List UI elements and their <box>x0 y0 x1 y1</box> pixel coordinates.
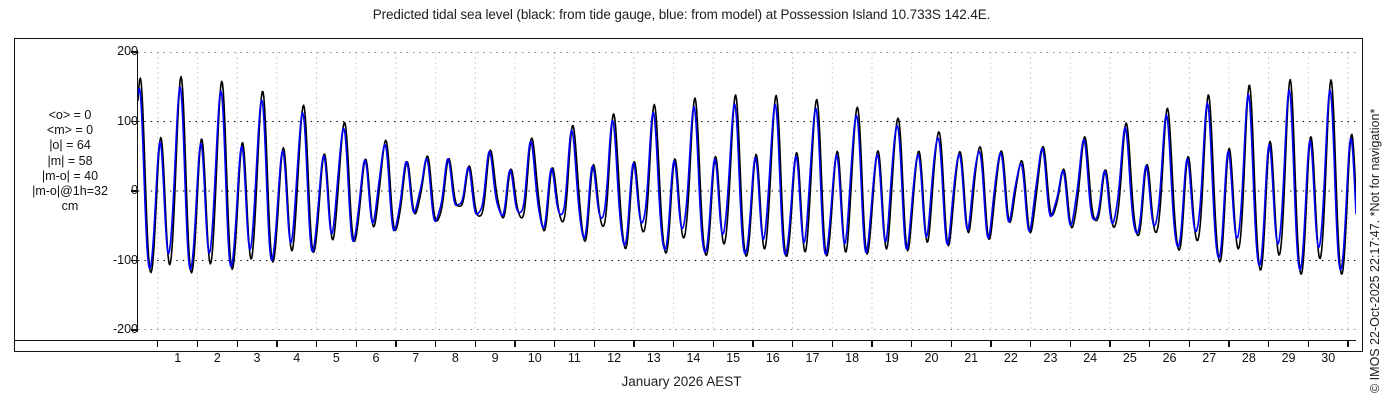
tide-series-svg <box>138 52 1356 330</box>
x-tick-label: 14 <box>678 351 708 365</box>
x-tick <box>911 340 912 347</box>
x-tick-label: 27 <box>1194 351 1224 365</box>
x-tick-label: 10 <box>520 351 550 365</box>
x-tick-label: 19 <box>877 351 907 365</box>
x-tick-label: 22 <box>996 351 1026 365</box>
x-tick-label: 26 <box>1155 351 1185 365</box>
x-tick <box>1347 340 1348 347</box>
y-tick-label: 100 <box>104 114 138 128</box>
x-tick-label: 12 <box>599 351 629 365</box>
x-tick <box>276 340 277 347</box>
x-tick <box>1070 340 1071 347</box>
x-tick <box>435 340 436 347</box>
y-tick-label: 200 <box>104 44 138 58</box>
x-tick <box>1109 340 1110 347</box>
x-tick <box>475 340 476 347</box>
x-tick-label: 5 <box>321 351 351 365</box>
x-tick-label: 29 <box>1274 351 1304 365</box>
stat-rms-diff: |m-o| = 40 <box>6 169 134 184</box>
x-tick <box>1228 340 1229 347</box>
x-tick <box>1268 340 1269 347</box>
x-tick <box>237 340 238 347</box>
plot-area <box>138 52 1356 330</box>
x-tick-label: 25 <box>1115 351 1145 365</box>
x-tick <box>356 340 357 347</box>
y-tick-label: -200 <box>104 322 138 336</box>
x-tick <box>594 340 595 347</box>
x-tick <box>713 340 714 347</box>
x-tick-label: 20 <box>916 351 946 365</box>
x-tick-label: 23 <box>1036 351 1066 365</box>
x-tick <box>633 340 634 347</box>
x-tick <box>554 340 555 347</box>
x-tick <box>752 340 753 347</box>
x-tick-label: 9 <box>480 351 510 365</box>
x-tick-label: 11 <box>559 351 589 365</box>
x-tick-label: 17 <box>797 351 827 365</box>
y-tick-label: -100 <box>104 253 138 267</box>
stat-rms-model: |m| = 58 <box>6 154 134 169</box>
x-tick-label: 13 <box>639 351 669 365</box>
x-tick-label: 1 <box>163 351 193 365</box>
x-tick <box>514 340 515 347</box>
x-tick-label: 8 <box>440 351 470 365</box>
x-tick-label: 15 <box>718 351 748 365</box>
x-tick <box>673 340 674 347</box>
x-tick <box>951 340 952 347</box>
copyright-notice: © IMOS 22-Oct-2025 22:17:47. *Not for na… <box>1368 0 1390 393</box>
x-tick-label: 18 <box>837 351 867 365</box>
x-tick <box>990 340 991 347</box>
x-tick-label: 16 <box>758 351 788 365</box>
x-tick-label: 6 <box>361 351 391 365</box>
x-tick <box>792 340 793 347</box>
x-tick-label: 24 <box>1075 351 1105 365</box>
x-tick <box>1189 340 1190 347</box>
y-tick-label: 0 <box>104 183 138 197</box>
x-tick-label: 2 <box>202 351 232 365</box>
x-tick-label: 4 <box>282 351 312 365</box>
x-axis-spine <box>15 340 1356 341</box>
x-tick <box>871 340 872 347</box>
x-tick <box>1030 340 1031 347</box>
tidal-chart-page: Predicted tidal sea level (black: from t… <box>0 0 1400 400</box>
x-tick-label: 21 <box>956 351 986 365</box>
page-title: Predicted tidal sea level (black: from t… <box>0 7 1363 22</box>
x-tick-label: 30 <box>1313 351 1343 365</box>
stat-units: cm <box>6 199 134 214</box>
x-tick <box>316 340 317 347</box>
x-tick-label: 7 <box>401 351 431 365</box>
x-tick <box>1149 340 1150 347</box>
x-tick <box>395 340 396 347</box>
x-tick <box>157 340 158 347</box>
x-tick <box>832 340 833 347</box>
x-tick-label: 28 <box>1234 351 1264 365</box>
stat-rms-obs: |o| = 64 <box>6 138 134 153</box>
x-tick <box>1308 340 1309 347</box>
x-tick-label: 3 <box>242 351 272 365</box>
x-axis-title: January 2026 AEST <box>0 374 1363 389</box>
x-tick <box>197 340 198 347</box>
